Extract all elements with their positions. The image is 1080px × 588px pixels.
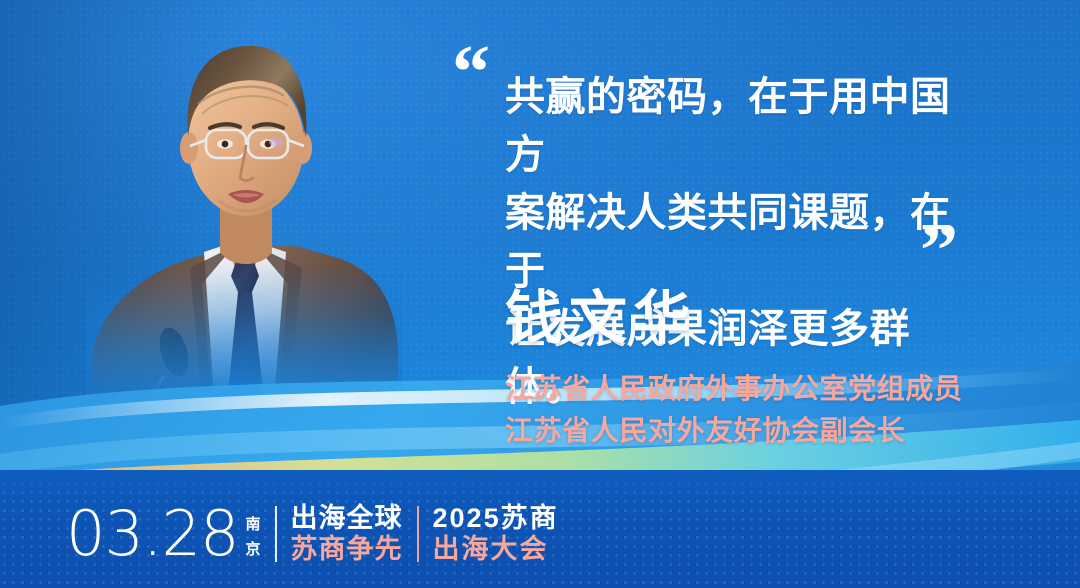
event-slogan: 出海全球 苏商争先 <box>291 503 403 565</box>
quote-close-mark: ” <box>920 213 956 289</box>
event-name-line2: 出海大会 <box>433 534 559 565</box>
quote-line: 共赢的密码，在于用中国方 <box>505 68 975 184</box>
event-slogan-line1: 出海全球 <box>291 503 403 534</box>
quote-open-mark: “ <box>452 34 488 110</box>
footer-divider-1 <box>275 506 277 562</box>
speaker-name: 钱文华 <box>505 286 697 352</box>
poster-canvas: “ 共赢的密码，在于用中国方 案解决人类共同课题，在于 让发展成果润泽更多群体。… <box>0 0 1080 588</box>
event-date: 03.28 <box>66 503 239 565</box>
event-city-char: 京 <box>246 537 261 562</box>
quote-text: 共赢的密码，在于用中国方 案解决人类共同课题，在于 让发展成果润泽更多群体。 <box>505 68 975 416</box>
quote-line: 案解决人类共同课题，在于 <box>505 184 975 300</box>
event-name: 2025苏商 出海大会 <box>433 503 559 565</box>
speaker-titles: 江苏省人民政府外事办公室党组成员 江苏省人民对外友好协会副会长 <box>505 368 1025 452</box>
event-slogan-line2: 苏商争先 <box>291 534 403 565</box>
event-city-char: 南 <box>246 512 261 537</box>
footer-divider-2 <box>417 506 419 562</box>
speaker-title-line: 江苏省人民政府外事办公室党组成员 <box>505 368 1025 410</box>
footer-lockup: 03.28 南 京 出海全球 苏商争先 2025苏商 出海大会 <box>66 498 559 570</box>
event-city: 南 京 <box>246 506 261 568</box>
event-name-line1: 2025苏商 <box>433 503 559 534</box>
speaker-title-line: 江苏省人民对外友好协会副会长 <box>505 410 1025 452</box>
